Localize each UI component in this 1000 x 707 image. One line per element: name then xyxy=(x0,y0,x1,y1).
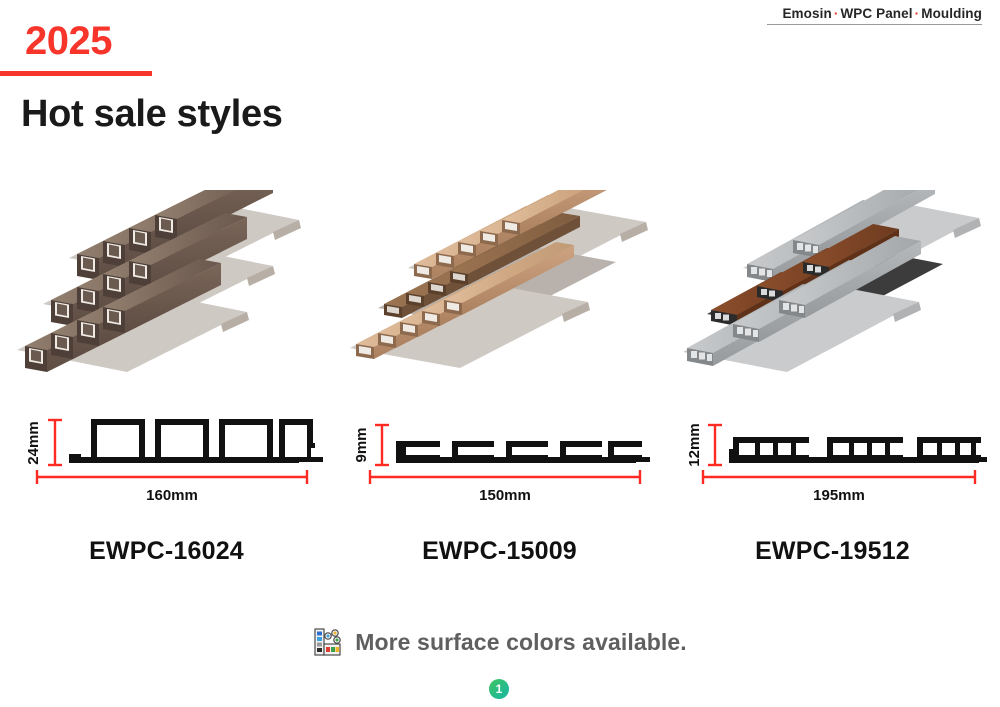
product-card[interactable]: 24mm xyxy=(0,190,333,566)
footer-note: More surface colors available. xyxy=(0,627,1000,657)
brand-header: Emosin·WPC Panel·Moulding xyxy=(767,6,982,25)
page-title: Hot sale styles xyxy=(21,94,283,136)
brand-underline xyxy=(767,24,982,25)
height-label-1: 24mm xyxy=(25,421,42,464)
profile-diagram-1: 24mm xyxy=(7,407,327,507)
width-label-1: 160mm xyxy=(146,487,198,504)
brand-separator-2: · xyxy=(913,6,922,21)
width-label-3: 195mm xyxy=(813,487,865,504)
product-code: EWPC-15009 xyxy=(422,537,577,566)
brand-part-category: Moulding xyxy=(921,6,982,21)
height-label-2: 9mm xyxy=(353,427,370,462)
product-card[interactable]: 9mm 150mm xyxy=(333,190,666,566)
height-dimension-line xyxy=(375,425,389,465)
year-label: 2025 xyxy=(25,21,112,61)
color-palette-icon xyxy=(313,627,343,657)
footer-note-text: More surface colors available. xyxy=(355,629,687,656)
height-dimension-line xyxy=(48,420,62,465)
brand-part-company: Emosin xyxy=(782,6,831,21)
page-number-badge: 1 xyxy=(489,679,509,699)
wpc-panel-photo-dark-brown xyxy=(17,190,317,395)
panel-cross-section-1 xyxy=(69,419,323,463)
wpc-panel-photo-light-oak xyxy=(350,190,650,395)
width-dimension-line xyxy=(703,470,975,484)
height-dimension-line xyxy=(708,425,722,465)
brand-part-product: WPC Panel xyxy=(840,6,912,21)
product-card[interactable]: 12mm xyxy=(666,190,999,566)
product-code: EWPC-19512 xyxy=(755,537,910,566)
profile-diagram-3: 12mm xyxy=(673,407,993,507)
product-list: 24mm xyxy=(0,190,1000,566)
width-label-2: 150mm xyxy=(479,487,531,504)
width-dimension-line xyxy=(370,470,640,484)
height-label-3: 12mm xyxy=(686,423,703,466)
panel-cross-section-2 xyxy=(396,441,650,463)
profile-diagram-2: 9mm 150mm xyxy=(340,407,660,507)
title-divider xyxy=(0,71,152,76)
width-dimension-line xyxy=(37,470,307,484)
panel-cross-section-3 xyxy=(729,437,987,463)
product-code: EWPC-16024 xyxy=(89,537,244,566)
wpc-panel-photo-grey xyxy=(683,190,983,395)
brand-text: Emosin·WPC Panel·Moulding xyxy=(767,6,982,21)
